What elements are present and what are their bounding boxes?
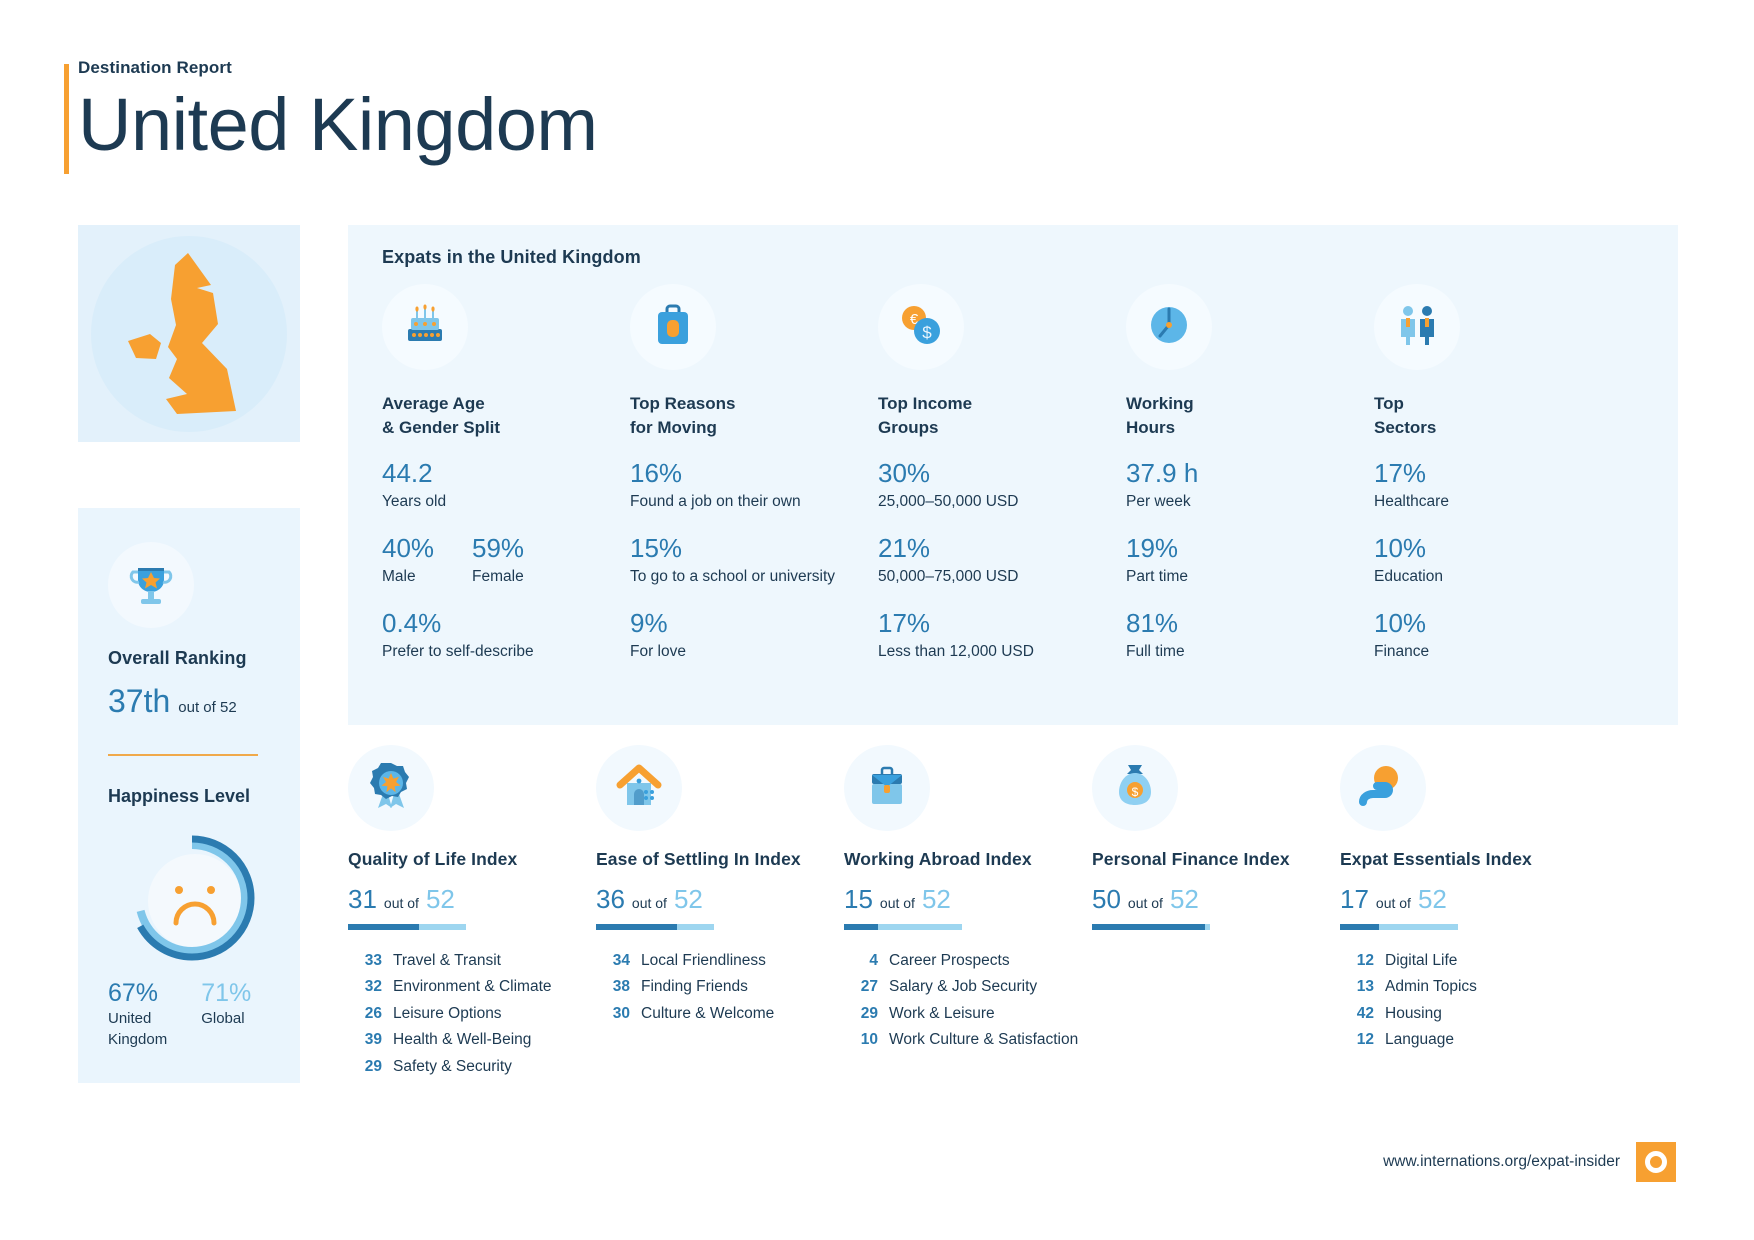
stats-columns: Average Age& Gender Split44.2Years old40…: [382, 284, 1644, 684]
index-total: 52: [426, 884, 455, 915]
happiness-global: 71% Global: [201, 979, 251, 1049]
index-rank: 15: [844, 884, 873, 915]
stat-block: 17%Healthcare: [1374, 458, 1622, 512]
subscore-label: Work Culture & Satisfaction: [889, 1029, 1078, 1051]
subscore-rank: 39: [348, 1029, 382, 1051]
stat-column-5: TopSectors17%Healthcare10%Education10%Fi…: [1374, 284, 1622, 684]
stat-value: 0.4%: [382, 608, 630, 639]
list-item: 4Career Prospects: [844, 950, 1092, 972]
index-subscore-list: 33Travel & Transit32Environment & Climat…: [348, 950, 596, 1078]
stat-value: 81%: [1126, 608, 1374, 639]
people-icon-wrap: [1374, 284, 1460, 370]
stat-value: 10%: [1374, 533, 1622, 564]
header-accent-rule: [64, 64, 69, 174]
stat-label: 25,000–50,000 USD: [878, 492, 1126, 512]
hand-sun-icon-wrap: [1340, 745, 1426, 831]
map-circle-backdrop: [91, 236, 287, 432]
index-title: Quality of Life Index: [348, 849, 596, 870]
index-out-of-label: out of: [632, 895, 667, 911]
stat-block: 81%Full time: [1126, 608, 1374, 662]
index-subscore-list: 4Career Prospects27Salary & Job Security…: [844, 950, 1092, 1052]
happiness-level-heading: Happiness Level: [108, 786, 276, 807]
stat-value: 37.9 h: [1126, 458, 1374, 489]
section-divider: [108, 754, 258, 756]
happiness-legend: 67% United Kingdom 71% Global: [108, 979, 276, 1049]
index-progress-bar: [844, 924, 962, 930]
stat-heading-line1: Average Age: [382, 394, 485, 413]
subscore-label: Finding Friends: [641, 976, 748, 998]
stat-block: 19%Part time: [1126, 533, 1374, 587]
stat-heading-line1: Working: [1126, 394, 1194, 413]
index-rank: 17: [1340, 884, 1369, 915]
index-card-3: Working Abroad Index15out of524Career Pr…: [844, 745, 1092, 1082]
index-total: 52: [1170, 884, 1199, 915]
index-cards-row: Quality of Life Index31out of5233Travel …: [348, 745, 1678, 1082]
list-item: 13Admin Topics: [1340, 976, 1588, 998]
stat-heading-line1: Top Reasons: [630, 394, 735, 413]
overall-ranking-value: 37th: [108, 683, 170, 720]
stat-value: 17%: [1374, 458, 1622, 489]
coins-icon: €$: [894, 300, 948, 355]
subscore-label: Salary & Job Security: [889, 976, 1037, 998]
logo-ring: [1645, 1151, 1667, 1173]
index-score-row: 31out of52: [348, 884, 596, 915]
stat-block: 21%50,000–75,000 USD: [878, 533, 1126, 587]
index-progress-bar: [596, 924, 714, 930]
index-title: Expat Essentials Index: [1340, 849, 1588, 870]
index-title: Personal Finance Index: [1092, 849, 1340, 870]
report-kicker: Destination Report: [78, 58, 598, 78]
stat-heading-line1: Top Income: [878, 394, 972, 413]
index-progress-fill: [348, 924, 419, 930]
index-rank: 50: [1092, 884, 1121, 915]
infographic-page: Destination Report United Kingdom Overal…: [0, 0, 1754, 1240]
index-score-row: 50out of52: [1092, 884, 1340, 915]
stat-label: Prefer to self-describe: [382, 642, 630, 662]
stat-label-secondary: Female: [472, 567, 562, 587]
happiness-local-label-1: United: [108, 1010, 167, 1029]
subscore-rank: 12: [1340, 950, 1374, 972]
stat-value: 16%: [630, 458, 878, 489]
stat-block: 40%Male59%Female: [382, 533, 630, 587]
stat-label: Healthcare: [1374, 492, 1622, 512]
index-title: Ease of Settling In Index: [596, 849, 844, 870]
stat-label: Finance: [1374, 642, 1622, 662]
list-item: 29Work & Leisure: [844, 1003, 1092, 1025]
internations-logo-icon: [1636, 1142, 1676, 1182]
list-item: 38Finding Friends: [596, 976, 844, 998]
stat-column-3: €$Top IncomeGroups30%25,000–50,000 USD21…: [878, 284, 1126, 684]
subscore-rank: 29: [348, 1056, 382, 1078]
money-bag-icon: $: [1111, 759, 1159, 818]
stat-heading-line1: Top: [1374, 394, 1404, 413]
index-progress-bar: [1340, 924, 1458, 930]
stat-value: 30%: [878, 458, 1126, 489]
stat-label: For love: [630, 642, 878, 662]
stat-block: 10%Education: [1374, 533, 1622, 587]
stat-value: 15%: [630, 533, 878, 564]
index-out-of-label: out of: [880, 895, 915, 911]
trophy-icon: [124, 558, 178, 612]
index-card-2: Ease of Settling In Index36out of5234Loc…: [596, 745, 844, 1082]
index-card-1: Quality of Life Index31out of5233Travel …: [348, 745, 596, 1082]
subscore-label: Travel & Transit: [393, 950, 501, 972]
svg-text:$: $: [1132, 785, 1139, 799]
index-progress-fill: [844, 924, 878, 930]
stat-value-secondary: 59%: [472, 533, 562, 564]
page-title: United Kingdom: [78, 86, 598, 164]
subscore-label: Safety & Security: [393, 1056, 512, 1078]
stat-value: 44.2: [382, 458, 630, 489]
expats-stats-panel: Expats in the United Kingdom Average Age…: [348, 225, 1678, 725]
index-progress-fill: [596, 924, 677, 930]
stat-heading-line2: & Gender Split: [382, 418, 500, 437]
svg-text:$: $: [922, 323, 932, 342]
list-item: 39Health & Well-Being: [348, 1029, 596, 1051]
stat-block: 15%To go to a school or university: [630, 533, 878, 587]
subscore-label: Work & Leisure: [889, 1003, 995, 1025]
stat-column-2: Top Reasonsfor Moving16%Found a job on t…: [630, 284, 878, 684]
stat-value: 19%: [1126, 533, 1374, 564]
index-progress-bar: [348, 924, 466, 930]
money-bag-icon-wrap: $: [1092, 745, 1178, 831]
stat-value: 40%: [382, 533, 472, 564]
stat-column-heading: Top IncomeGroups: [878, 392, 1126, 440]
index-score-row: 36out of52: [596, 884, 844, 915]
stat-column-heading: WorkingHours: [1126, 392, 1374, 440]
subscore-rank: 29: [844, 1003, 878, 1025]
list-item: 42Housing: [1340, 1003, 1588, 1025]
uk-map-icon: [114, 251, 264, 416]
footer-url[interactable]: www.internations.org/expat-insider: [1383, 1153, 1620, 1171]
subscore-label: Culture & Welcome: [641, 1003, 774, 1025]
index-subscore-list: 34Local Friendliness38Finding Friends30C…: [596, 950, 844, 1025]
stat-block: 9%For love: [630, 608, 878, 662]
stat-block: 10%Finance: [1374, 608, 1622, 662]
list-item: 33Travel & Transit: [348, 950, 596, 972]
stat-label: To go to a school or university: [630, 567, 878, 587]
stat-label: Male: [382, 567, 472, 587]
stat-label: Found a job on their own: [630, 492, 878, 512]
list-item: 29Safety & Security: [348, 1056, 596, 1078]
subscore-rank: 4: [844, 950, 878, 972]
list-item: 26Leisure Options: [348, 1003, 596, 1025]
house-icon: [612, 761, 666, 816]
subscore-rank: 13: [1340, 976, 1374, 998]
happiness-global-label: Global: [201, 1010, 251, 1029]
birthday-cake-icon: [399, 299, 451, 356]
stat-column-heading: Average Age& Gender Split: [382, 392, 630, 440]
stat-heading-line2: Sectors: [1374, 418, 1436, 437]
stat-block: 16%Found a job on their own: [630, 458, 878, 512]
stat-block: 0.4%Prefer to self-describe: [382, 608, 630, 662]
stat-heading-line2: Hours: [1126, 418, 1175, 437]
subscore-rank: 27: [844, 976, 878, 998]
stat-column-4: WorkingHours37.9 hPer week19%Part time81…: [1126, 284, 1374, 684]
happiness-donut-wrap: [108, 833, 276, 963]
list-item: 12Digital Life: [1340, 950, 1588, 972]
stat-label: Education: [1374, 567, 1622, 587]
list-item: 10Work Culture & Satisfaction: [844, 1029, 1092, 1051]
happiness-local-label-2: Kingdom: [108, 1031, 167, 1050]
list-item: 12Language: [1340, 1029, 1588, 1051]
stat-value: 10%: [1374, 608, 1622, 639]
index-out-of-label: out of: [384, 895, 419, 911]
subscore-label: Admin Topics: [1385, 976, 1477, 998]
clock-icon-wrap: [1126, 284, 1212, 370]
subscore-label: Environment & Climate: [393, 976, 552, 998]
subscore-rank: 32: [348, 976, 382, 998]
trophy-icon-wrap: [108, 542, 194, 628]
stat-block: 17%Less than 12,000 USD: [878, 608, 1126, 662]
stat-heading-line2: for Moving: [630, 418, 717, 437]
subscore-rank: 42: [1340, 1003, 1374, 1025]
clock-icon: [1144, 300, 1194, 355]
stat-label: Less than 12,000 USD: [878, 642, 1126, 662]
subscore-label: Language: [1385, 1029, 1454, 1051]
happiness-global-pct: 71%: [201, 979, 251, 1008]
overall-ranking-value-row: 37th out of 52: [108, 683, 276, 720]
subscore-label: Local Friendliness: [641, 950, 766, 972]
happiness-local-pct: 67%: [108, 979, 167, 1008]
happiness-donut-chart: [127, 833, 257, 963]
stat-label: Years old: [382, 492, 630, 512]
index-score-row: 17out of52: [1340, 884, 1588, 915]
stat-label: 50,000–75,000 USD: [878, 567, 1126, 587]
subscore-label: Digital Life: [1385, 950, 1457, 972]
index-title: Working Abroad Index: [844, 849, 1092, 870]
house-icon-wrap: [596, 745, 682, 831]
stat-value: 17%: [878, 608, 1126, 639]
index-total: 52: [1418, 884, 1447, 915]
index-progress-fill: [1340, 924, 1379, 930]
index-out-of-label: out of: [1376, 895, 1411, 911]
coins-icon-wrap: €$: [878, 284, 964, 370]
people-icon: [1390, 299, 1444, 356]
subscore-rank: 34: [596, 950, 630, 972]
hand-sun-icon: [1355, 761, 1411, 816]
index-total: 52: [922, 884, 951, 915]
award-ribbon-icon: [365, 758, 417, 819]
suitcase-icon: [648, 299, 698, 356]
index-progress-fill: [1092, 924, 1205, 930]
stat-label: Full time: [1126, 642, 1374, 662]
list-item: 30Culture & Welcome: [596, 1003, 844, 1025]
stat-heading-line2: Groups: [878, 418, 938, 437]
stat-value: 9%: [630, 608, 878, 639]
subscore-label: Leisure Options: [393, 1003, 502, 1025]
stat-label: Part time: [1126, 567, 1374, 587]
stats-panel-title: Expats in the United Kingdom: [382, 247, 1644, 268]
index-subscore-list: 12Digital Life13Admin Topics42Housing12L…: [1340, 950, 1588, 1052]
index-out-of-label: out of: [1128, 895, 1163, 911]
index-card-5: Expat Essentials Index17out of5212Digita…: [1340, 745, 1588, 1082]
stat-value: 21%: [878, 533, 1126, 564]
subscore-rank: 26: [348, 1003, 382, 1025]
stat-label: Per week: [1126, 492, 1374, 512]
subscore-label: Health & Well-Being: [393, 1029, 531, 1051]
briefcase-icon-wrap: [844, 745, 930, 831]
subscore-rank: 30: [596, 1003, 630, 1025]
index-score-row: 15out of52: [844, 884, 1092, 915]
country-map-card: [78, 225, 300, 442]
index-card-4: $Personal Finance Index50out of52: [1092, 745, 1340, 1082]
overall-ranking-heading: Overall Ranking: [108, 648, 276, 669]
happiness-local: 67% United Kingdom: [108, 979, 167, 1049]
stat-block: 44.2Years old: [382, 458, 630, 512]
subscore-rank: 38: [596, 976, 630, 998]
subscore-rank: 12: [1340, 1029, 1374, 1051]
page-footer: www.internations.org/expat-insider: [1383, 1142, 1676, 1182]
ranking-happiness-card: Overall Ranking 37th out of 52 Happiness…: [78, 508, 300, 1083]
stat-block: 30%25,000–50,000 USD: [878, 458, 1126, 512]
page-header: Destination Report United Kingdom: [78, 58, 598, 164]
index-total: 52: [674, 884, 703, 915]
stat-column-heading: Top Reasonsfor Moving: [630, 392, 878, 440]
stat-column-heading: TopSectors: [1374, 392, 1622, 440]
subscore-label: Housing: [1385, 1003, 1442, 1025]
birthday-cake-icon-wrap: [382, 284, 468, 370]
subscore-rank: 10: [844, 1029, 878, 1051]
stat-block: 37.9 hPer week: [1126, 458, 1374, 512]
award-ribbon-icon-wrap: [348, 745, 434, 831]
index-rank: 31: [348, 884, 377, 915]
stat-column-1: Average Age& Gender Split44.2Years old40…: [382, 284, 630, 684]
briefcase-icon: [861, 761, 913, 816]
suitcase-icon-wrap: [630, 284, 716, 370]
subscore-rank: 33: [348, 950, 382, 972]
list-item: 27Salary & Job Security: [844, 976, 1092, 998]
list-item: 32Environment & Climate: [348, 976, 596, 998]
index-progress-bar: [1092, 924, 1210, 930]
overall-ranking-suffix: out of 52: [178, 699, 236, 716]
subscore-label: Career Prospects: [889, 950, 1010, 972]
list-item: 34Local Friendliness: [596, 950, 844, 972]
index-rank: 36: [596, 884, 625, 915]
